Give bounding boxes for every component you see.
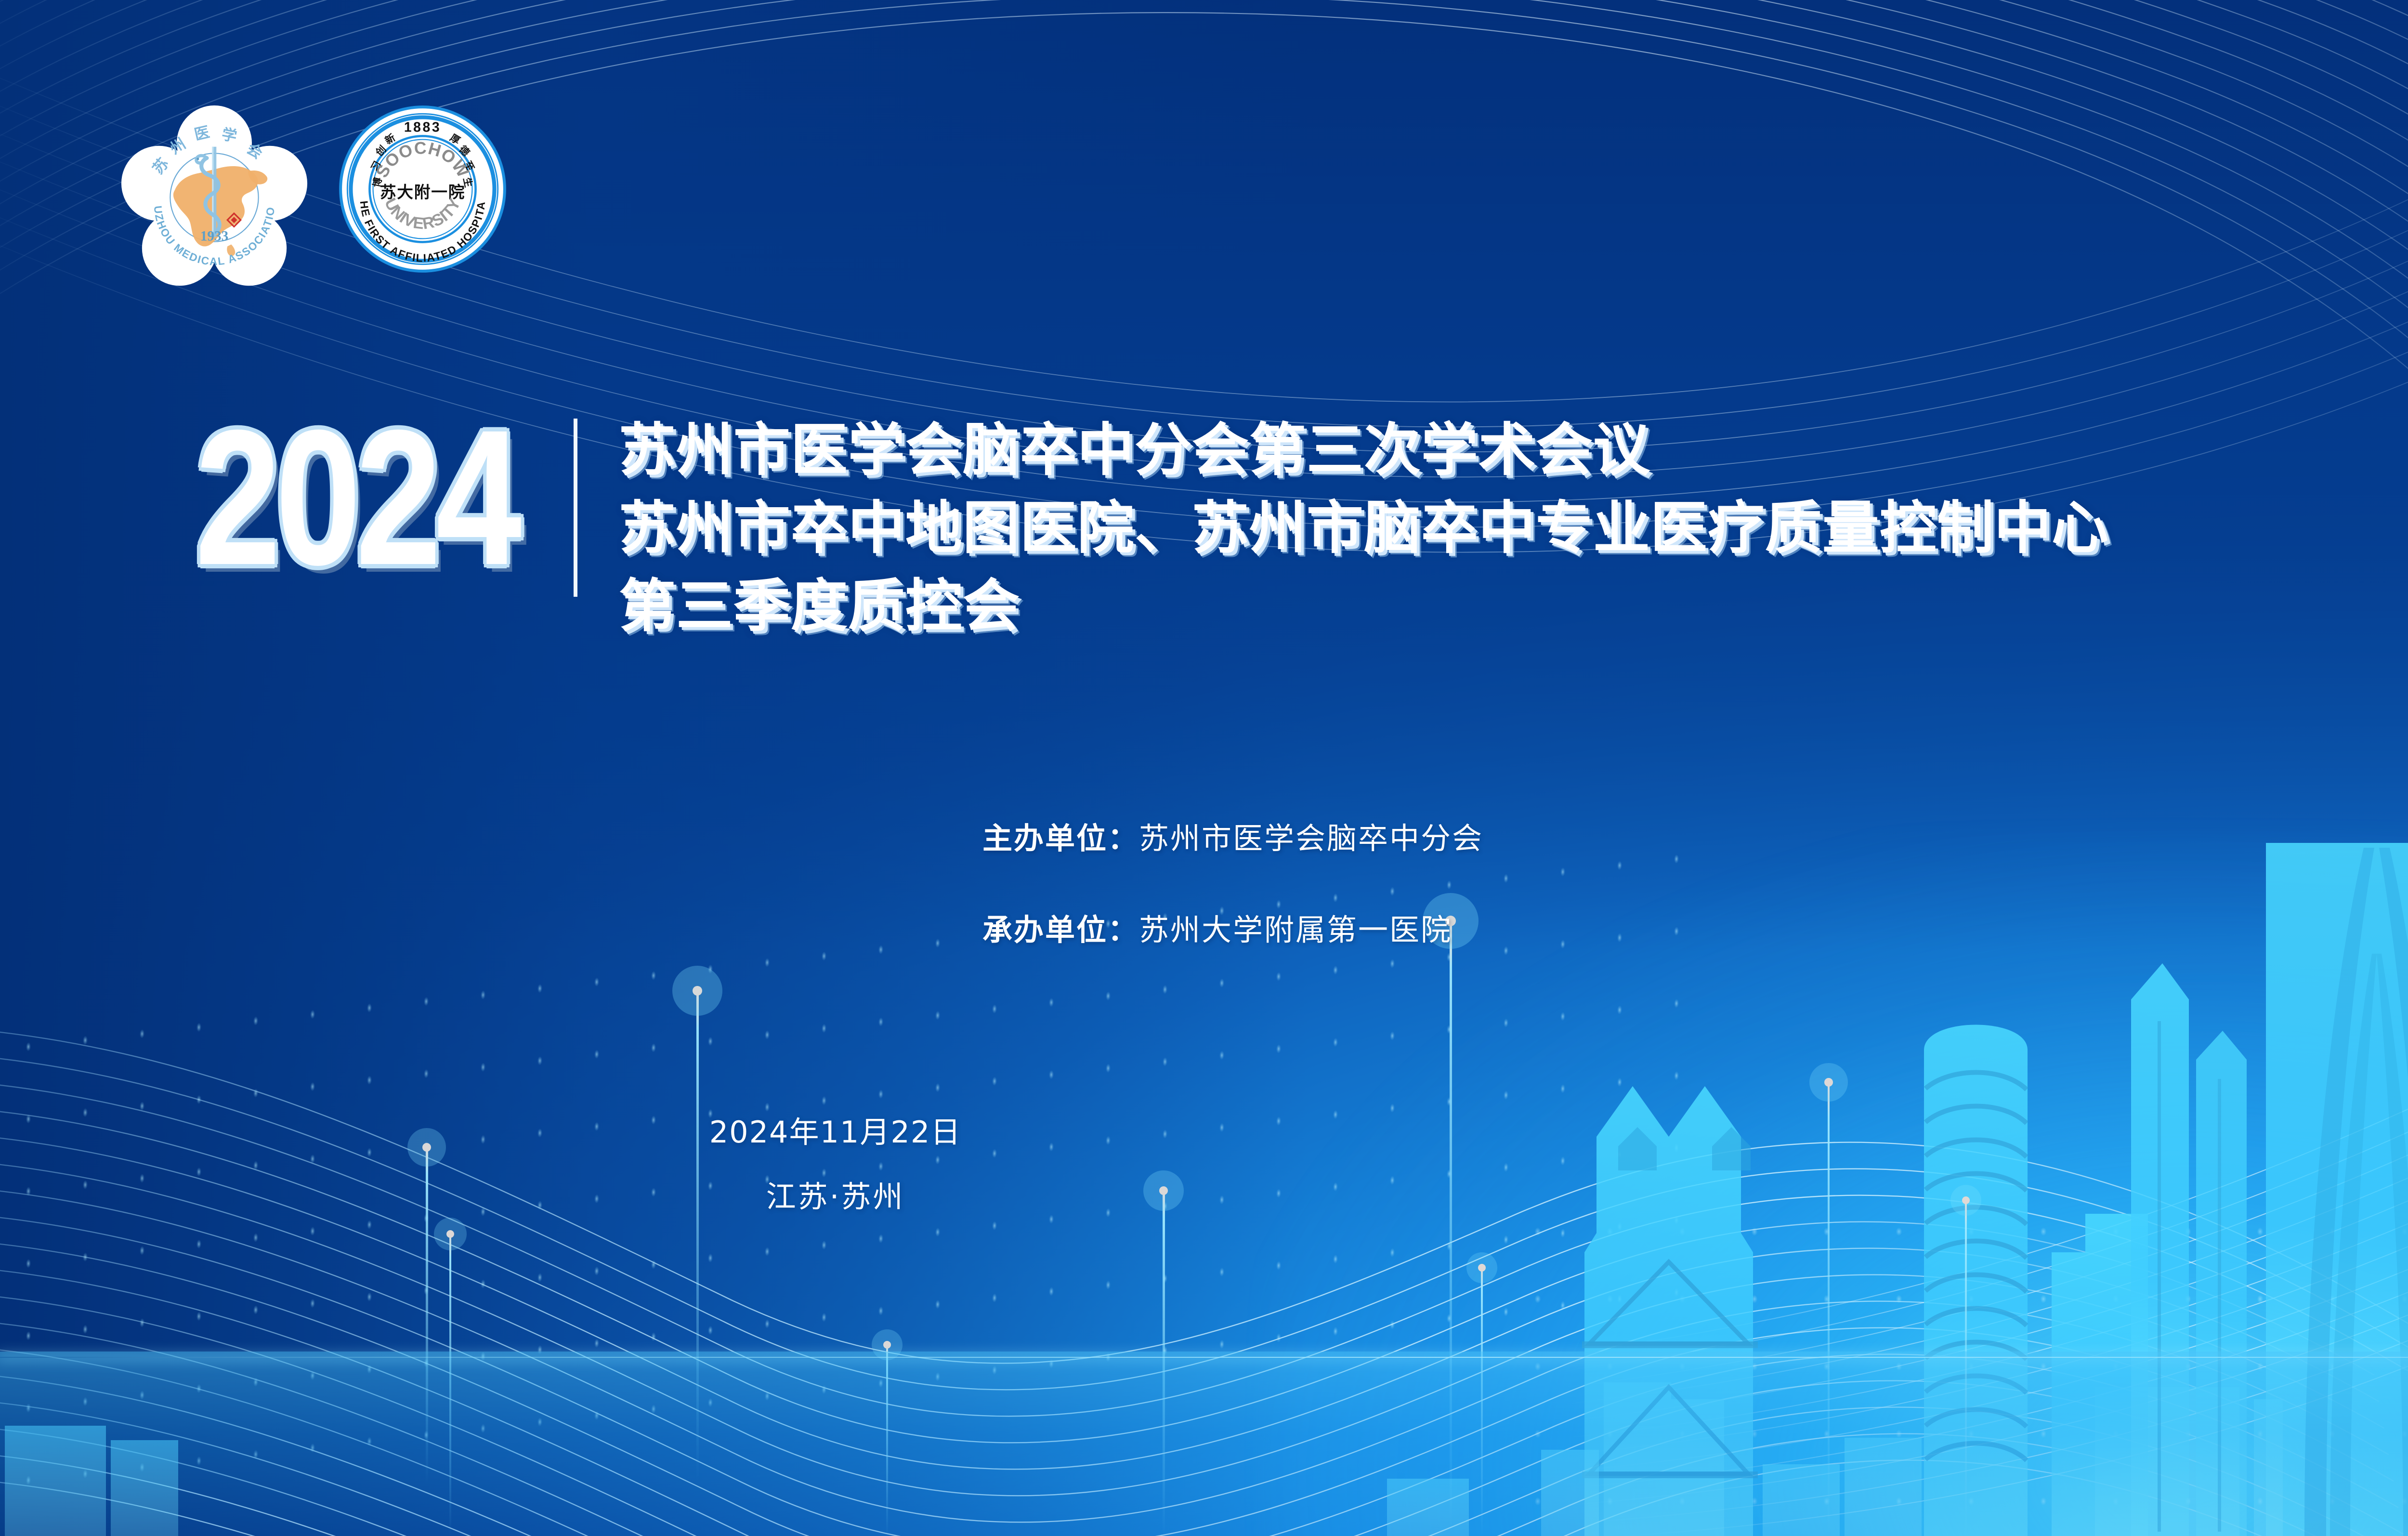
organizer-coorganizer: 承办单位： 苏州大学附属第一医院 [982, 906, 1483, 949]
event-meta: 2024年11月22日 江苏·苏州 [0, 1108, 2408, 1216]
organizer-host: 主办单位： 苏州市医学会脑卒中分会 [982, 814, 1483, 857]
title-block: 2024 苏州市医学会脑卒中分会第三次学术会议 苏州市卒中地图医院、苏州市脑卒中… [195, 412, 2109, 641]
organizer-coorganizer-label: 承办单位： [982, 906, 1139, 949]
organizer-list: 主办单位： 苏州市医学会脑卒中分会 承办单位： 苏州大学附属第一医院 [982, 814, 1483, 949]
organizer-host-label: 主办单位： [982, 814, 1139, 857]
soochow-hospital-logo: 1883 博 习 创 新 厚 德 至 生 SOOCHOW [337, 104, 508, 277]
ground-reflection [0, 1352, 2408, 1536]
soochow-hospital-icon: 1883 博 习 创 新 厚 德 至 生 SOOCHOW [337, 104, 508, 275]
organizer-coorganizer-value: 苏州大学附属第一医院 [1139, 906, 1452, 949]
logo-year-1933: 1933 [200, 229, 229, 244]
organizer-host-value: 苏州市医学会脑卒中分会 [1139, 814, 1483, 857]
title-divider [574, 419, 577, 597]
title-line-3: 第三季度质控会 [619, 572, 2109, 641]
title-lines: 苏州市医学会脑卒中分会第三次学术会议 苏州市卒中地图医院、苏州市脑卒中专业医疗质… [619, 416, 2109, 641]
year-2024: 2024 [195, 403, 516, 592]
title-line-2: 苏州市卒中地图医院、苏州市脑卒中专业医疗质量控制中心 [619, 494, 2109, 563]
logo-year-1883: 1883 [404, 120, 441, 135]
conference-banner: 1933 苏 州 医 学 会 SUZHOU MEDICAL ASSOCIATIO… [0, 0, 2408, 1536]
logo-row: 1933 苏 州 医 学 会 SUZHOU MEDICAL ASSOCIATIO… [120, 104, 508, 294]
event-place: 江苏·苏州 [0, 1172, 2408, 1216]
suzhou-medical-association-logo: 1933 苏 州 医 学 会 SUZHOU MEDICAL ASSOCIATIO… [120, 104, 308, 294]
title-line-1: 苏州市医学会脑卒中分会第三次学术会议 [619, 416, 2109, 485]
svg-text:学: 学 [220, 126, 238, 145]
suzhou-medical-association-icon: 1933 苏 州 医 学 会 SUZHOU MEDICAL ASSOCIATIO… [120, 104, 308, 291]
event-date: 2024年11月22日 [0, 1108, 2408, 1151]
